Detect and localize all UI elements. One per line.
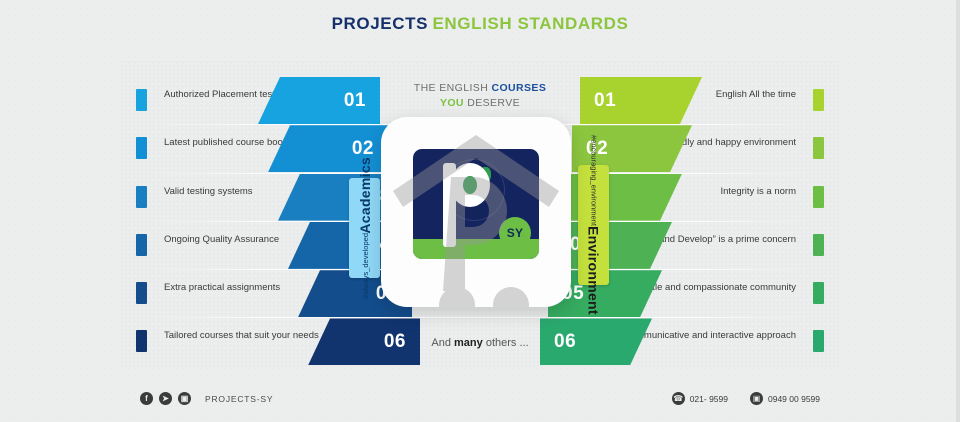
title-dark: PROJECTS — [332, 14, 428, 33]
right-row-marker — [813, 234, 824, 256]
social-links: f➤▣PROJECTS-SY — [140, 392, 273, 405]
right-row-marker — [813, 186, 824, 208]
left-row-marker — [136, 234, 147, 256]
tab-environment-title: Environment — [586, 226, 602, 315]
phone-contact[interactable]: ☎ 021- 9599 — [672, 392, 728, 405]
left-row-marker — [136, 137, 147, 159]
mobile-contact[interactable]: ▣ 0949 00 9599 — [750, 392, 820, 405]
footer-brand: PROJECTS-SY — [205, 394, 273, 404]
tab-academics-hashtag: #always_developed — [361, 233, 370, 299]
phone-icon: ☎ — [672, 392, 685, 405]
telegram-icon[interactable]: ➤ — [159, 392, 172, 405]
center-tagline: THE ENGLISH COURSES YOU DESERVE — [390, 80, 570, 110]
right-edge-strip — [956, 0, 960, 422]
center-footer-note: And many others ... — [390, 337, 570, 349]
left-step-number: 01 — [344, 90, 366, 112]
contact-info: ☎ 021- 9599 ▣ 0949 00 9599 — [672, 392, 820, 405]
page-title: PROJECTS ENGLISH STANDARDS — [0, 14, 960, 34]
brand-logo: SY — [381, 117, 571, 307]
mobile-icon: ▣ — [750, 392, 763, 405]
left-row-marker — [136, 186, 147, 208]
note-bold: many — [454, 337, 483, 349]
page-footer: f➤▣PROJECTS-SY ☎ 021- 9599 ▣ 0949 00 959… — [0, 392, 960, 416]
instagram-icon[interactable]: ▣ — [178, 392, 191, 405]
left-step-chevron[interactable]: 01 — [258, 77, 380, 124]
house-watermark-icon — [381, 117, 571, 307]
right-step-chevron[interactable]: 01 — [580, 77, 702, 124]
tab-academics[interactable]: Academics #always_developed — [349, 178, 380, 278]
left-row-marker — [136, 282, 147, 304]
facebook-icon[interactable]: f — [140, 392, 153, 405]
row-divider — [150, 317, 810, 318]
title-green: ENGLISH STANDARDS — [432, 14, 628, 33]
right-row-marker — [813, 137, 824, 159]
right-row-marker — [813, 282, 824, 304]
tagline-line1-bold: COURSES — [492, 82, 547, 94]
mobile-number: 0949 00 9599 — [768, 394, 820, 404]
tab-environment[interactable]: #encouraging_environment Environment — [578, 165, 609, 285]
tagline-line2-plain: DESERVE — [464, 97, 520, 109]
tagline-line2-bold: YOU — [440, 97, 464, 109]
left-row-marker — [136, 89, 147, 111]
right-row-marker — [813, 89, 824, 111]
left-row-marker — [136, 330, 147, 352]
phone-number: 021- 9599 — [690, 394, 728, 404]
right-step-chevron[interactable]: 04 — [556, 222, 672, 269]
note-post: others ... — [483, 337, 529, 349]
infographic-canvas: PROJECTS ENGLISH STANDARDS Authorized Pl… — [0, 0, 960, 422]
right-step-number: 01 — [594, 90, 616, 112]
tab-environment-hashtag: #encouraging_environment — [590, 135, 599, 226]
right-row-marker — [813, 330, 824, 352]
tab-academics-title: Academics — [357, 157, 373, 234]
tagline-line1-plain: THE ENGLISH — [414, 82, 492, 94]
note-pre: And — [431, 337, 454, 349]
